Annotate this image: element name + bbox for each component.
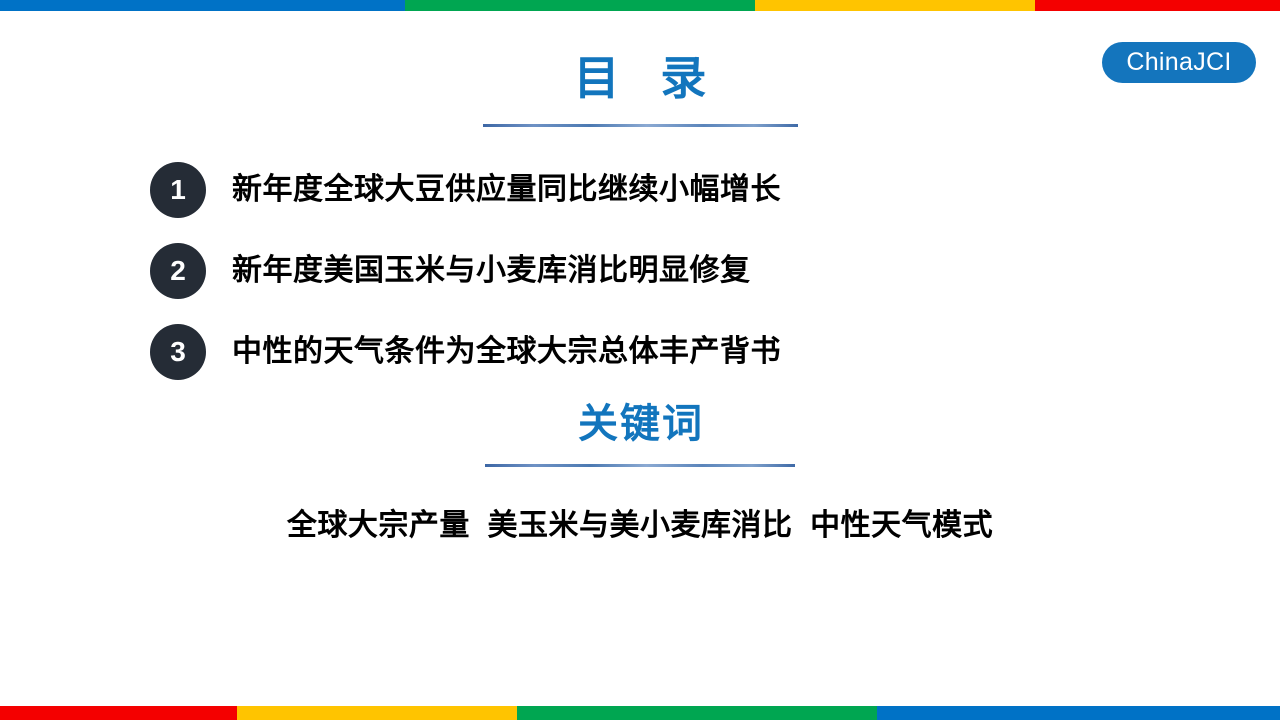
bottom-bar-segment-blue — [877, 706, 1280, 720]
bottom-color-bar — [0, 706, 1280, 720]
agenda-item-label-2: 新年度美国玉米与小麦库消比明显修复 — [232, 253, 1150, 289]
bottom-bar-segment-red — [0, 706, 237, 720]
agenda-number-badge-1: 1 — [150, 162, 206, 218]
keywords-title-underline — [485, 464, 795, 467]
page-title-underline — [483, 124, 798, 127]
top-bar-segment-red — [1035, 0, 1280, 11]
agenda-item-2[interactable]: 2 新年度美国玉米与小麦库消比明显修复 — [150, 241, 1150, 301]
top-bar-segment-green — [405, 0, 755, 11]
agenda-item-label-3: 中性的天气条件为全球大宗总体丰产背书 — [232, 334, 1150, 370]
agenda-list: 1 新年度全球大豆供应量同比继续小幅增长 2 新年度美国玉米与小麦库消比明显修复… — [150, 160, 1150, 403]
page-title-block: 目 录 — [0, 55, 1280, 127]
keywords-text: 全球大宗产量 美玉米与美小麦库消比 中性天气模式 — [0, 500, 1280, 544]
agenda-number-badge-3: 3 — [150, 324, 206, 380]
agenda-item-1[interactable]: 1 新年度全球大豆供应量同比继续小幅增长 — [150, 160, 1150, 220]
agenda-item-3[interactable]: 3 中性的天气条件为全球大宗总体丰产背书 — [150, 322, 1150, 382]
top-bar-segment-yellow — [755, 0, 1035, 11]
bottom-bar-segment-green — [517, 706, 877, 720]
top-color-bar — [0, 0, 1280, 11]
agenda-number-badge-2: 2 — [150, 243, 206, 299]
keywords-title-block: 关键词 — [0, 404, 1280, 467]
bottom-bar-segment-yellow — [237, 706, 517, 720]
agenda-item-label-1: 新年度全球大豆供应量同比继续小幅增长 — [232, 172, 1150, 208]
page-title: 目 录 — [0, 55, 1280, 101]
keywords-title: 关键词 — [0, 404, 1280, 444]
top-bar-segment-blue — [0, 0, 405, 11]
slide-agenda: ChinaJCI 目 录 1 新年度全球大豆供应量同比继续小幅增长 2 新年度美… — [0, 0, 1280, 720]
